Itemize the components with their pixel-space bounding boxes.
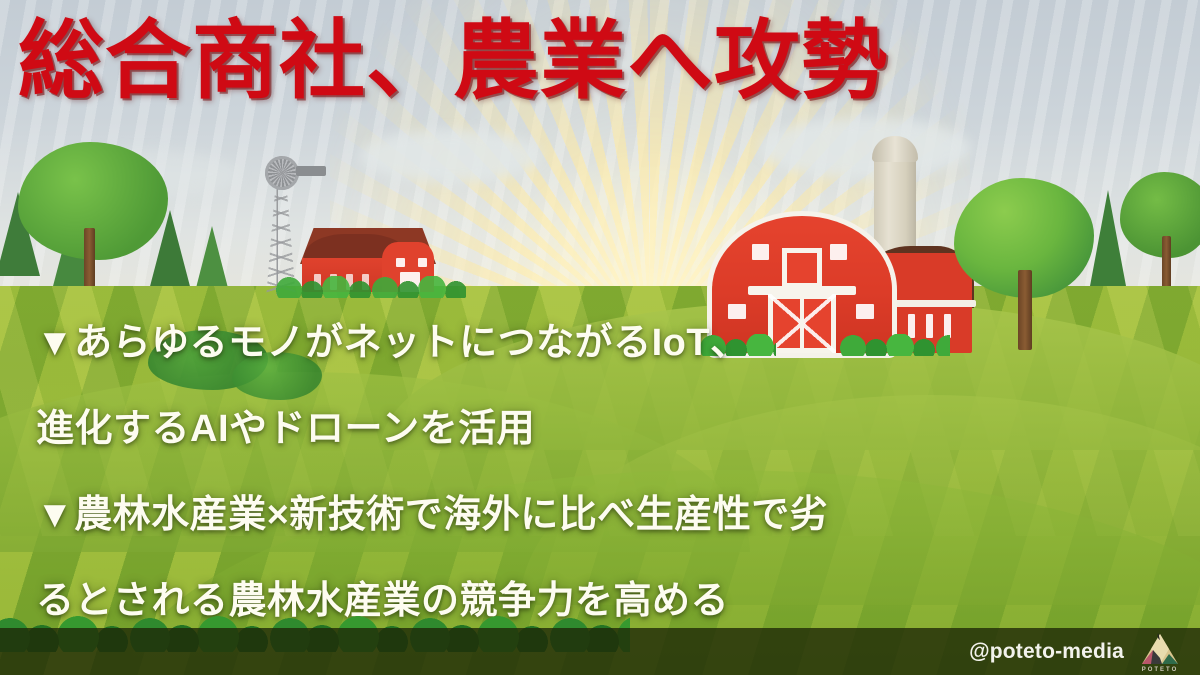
small-barn-window [418,258,427,267]
body-copy: ▼あらゆるモノがネットにつながるIoT、 進化するAIやドローンを活用 ▼農林水… [36,300,1166,644]
small-barn-window [396,258,405,267]
barn-loft-window-left [752,244,769,260]
body-line-3: ▼農林水産業×新技術で海外に比べ生産性で劣 [36,472,1166,558]
conifer-icon [1090,190,1126,286]
body-line-1: ▼あらゆるモノがネットにつながるIoT、 [36,300,1166,386]
background-tree-canopy [1120,172,1200,258]
poteto-logo-label: POTETO [1138,667,1182,673]
conifer-icon [148,210,192,294]
barn-loft-window-right [830,244,847,260]
conifer-icon [196,226,228,288]
social-card: 総合商社、農業へ攻勢 ▼あらゆるモノがネットにつながるIoT、 進化するAIやド… [0,0,1200,675]
barn-hayloft-door [782,248,822,288]
account-handle: @poteto-media [969,640,1124,664]
body-line-2: 進化するAIやドローンを活用 [36,386,1166,472]
hedge-row [276,276,466,298]
windmill-vane [296,166,326,176]
windmill-blades-icon [265,156,299,190]
poteto-triangle-icon [1138,632,1182,666]
page-title: 総合商社、農業へ攻勢 [18,14,1178,109]
footer-bar: @poteto-media POTETO [0,628,1200,675]
footer-content: @poteto-media POTETO [969,628,1182,675]
poteto-logo[interactable]: POTETO [1138,632,1182,672]
